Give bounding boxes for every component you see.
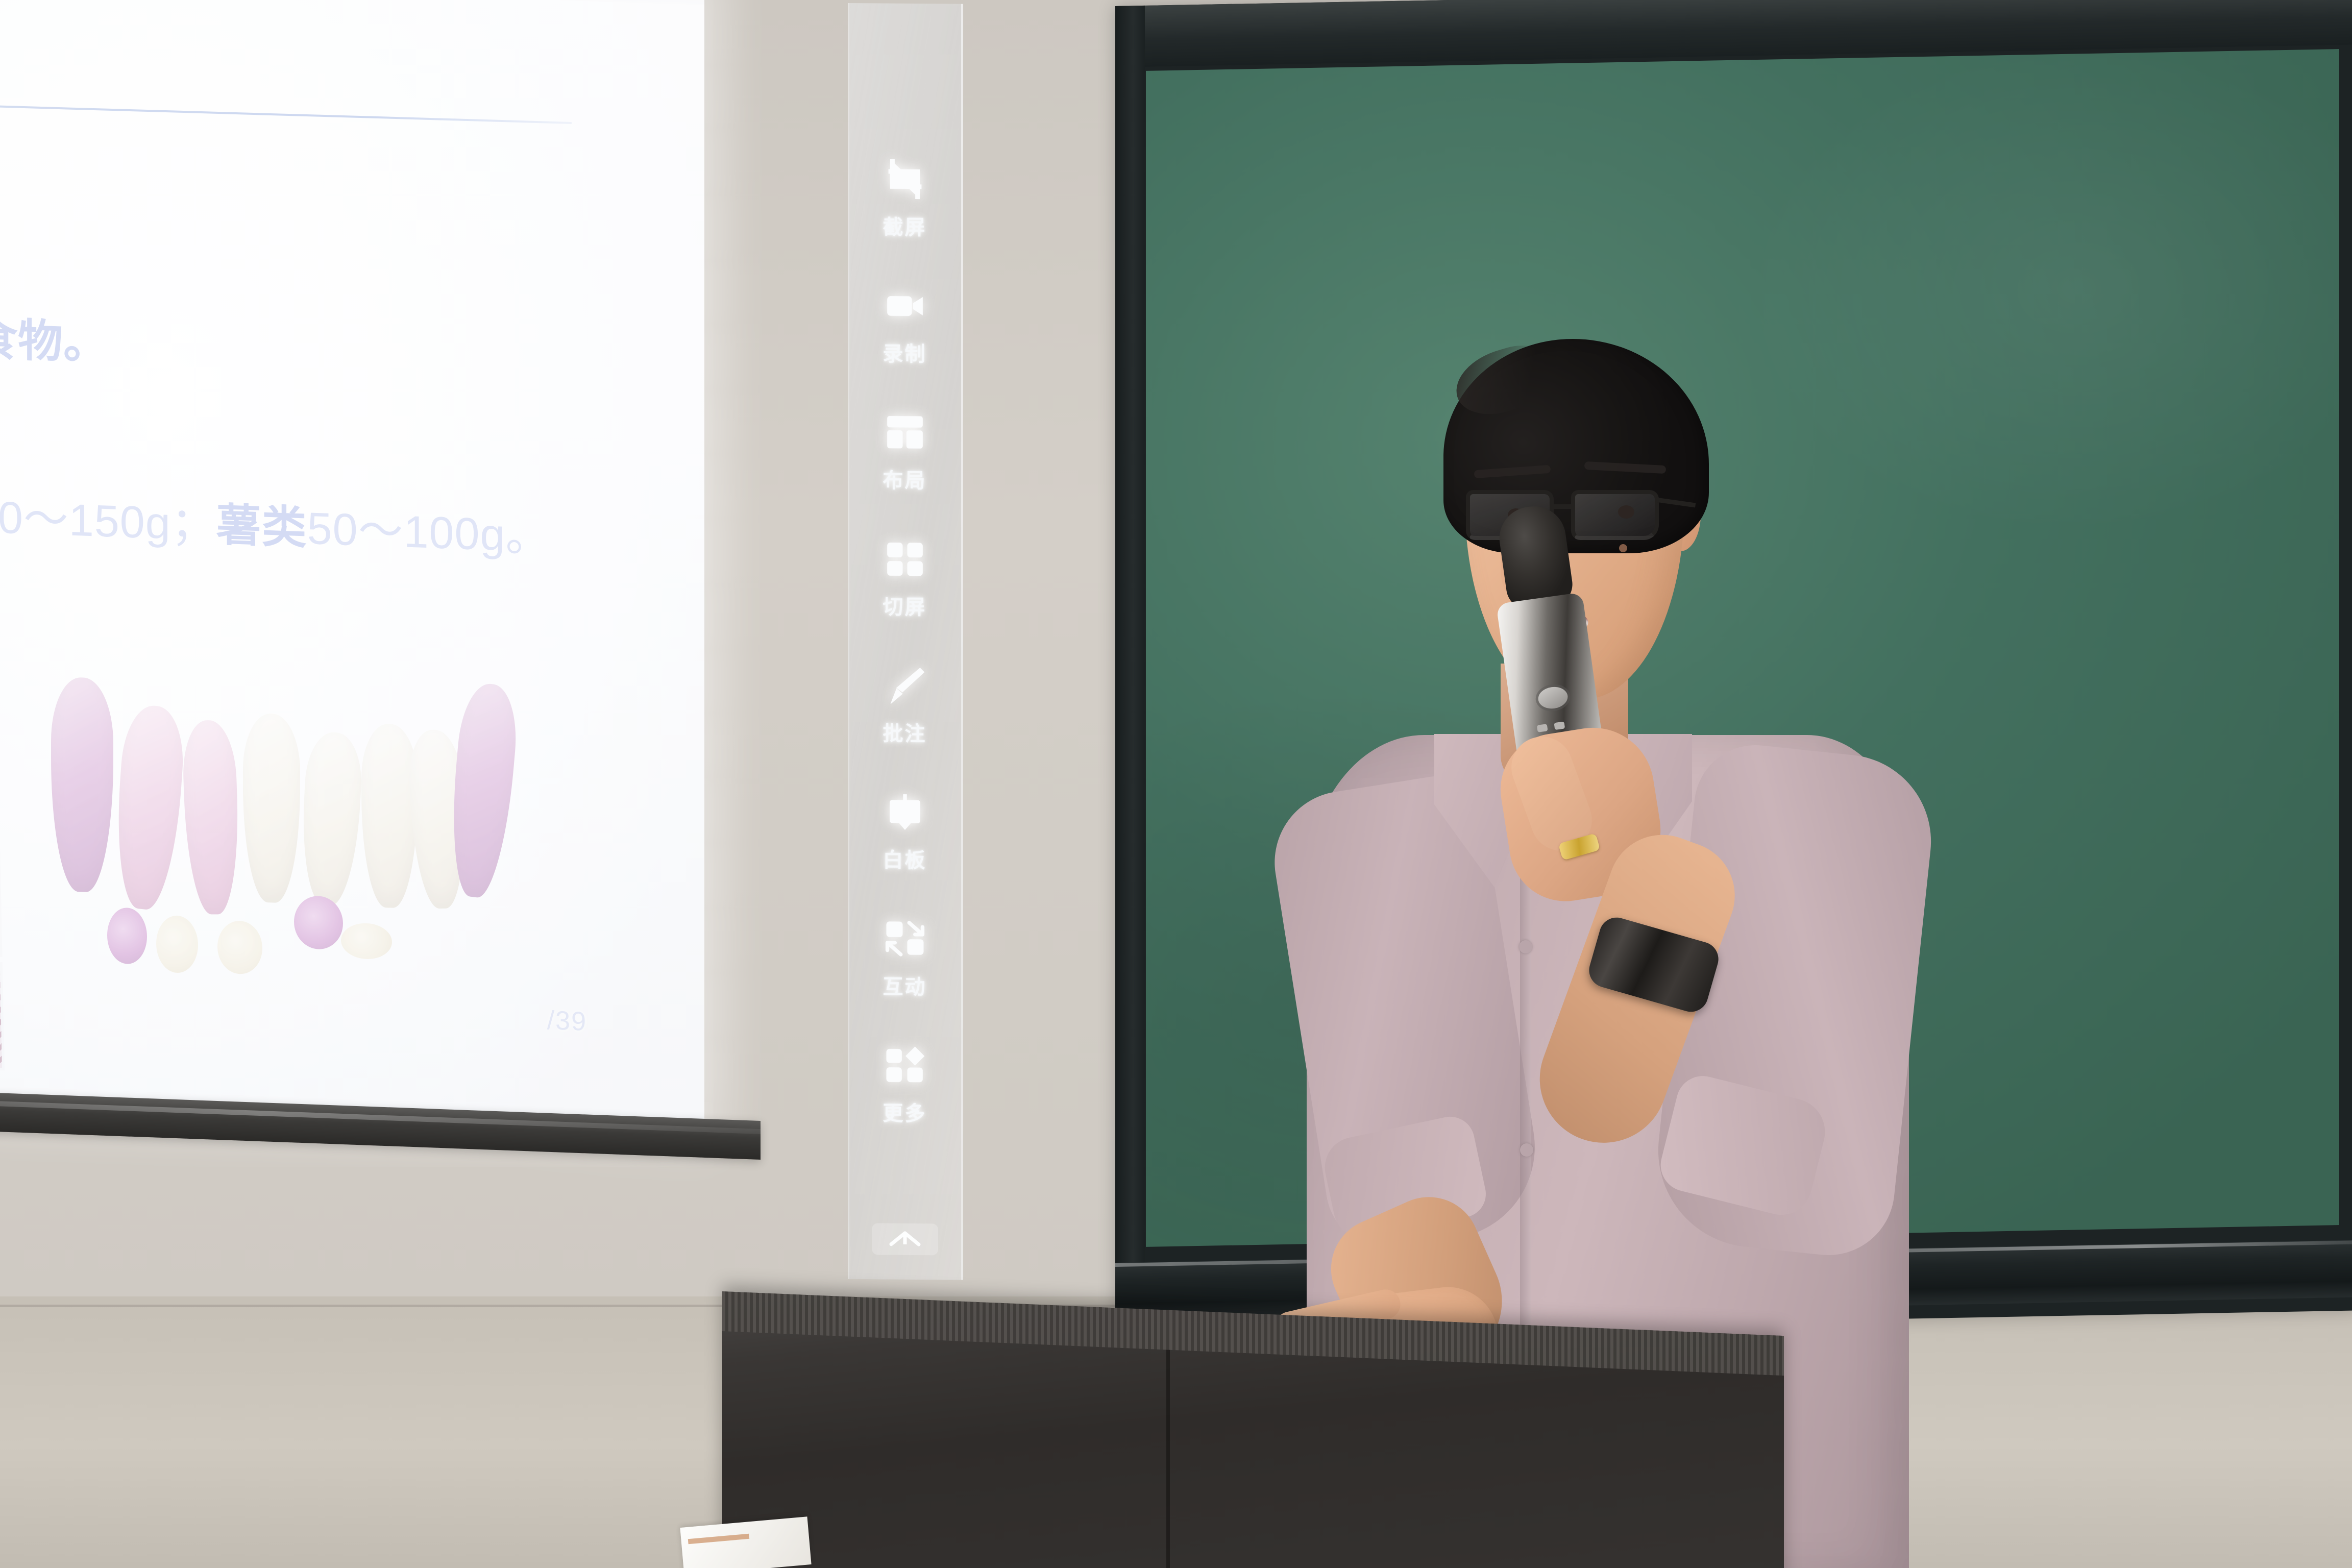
slide-line-3-amount-2: 50～100g。 — [307, 503, 551, 562]
presenter-cheek-mole — [1619, 544, 1627, 552]
grid-diamond-icon — [883, 1043, 927, 1088]
toolbar-label: 更多 — [883, 1097, 927, 1127]
toolbar-item-screenshot[interactable]: 截屏 — [848, 156, 961, 284]
toolbar-label: 截屏 — [883, 211, 927, 241]
chevron-up-icon — [887, 1227, 923, 1252]
toolbar-item-split-screen[interactable]: 切屏 — [848, 536, 961, 664]
sweet-potato-photo — [46, 661, 521, 994]
slide-line-3-mid: 薯类 — [216, 500, 307, 553]
microphone-key[interactable] — [1554, 721, 1565, 730]
smartboard-toolbar[interactable]: 截屏 录制 布局 — [848, 3, 963, 1280]
toolbar-label: 白板 — [883, 844, 927, 874]
sweet-potato-slice — [107, 907, 147, 965]
shirt-button — [1520, 1143, 1533, 1157]
sweet-potato — [181, 720, 241, 914]
monitor-panel-seam — [1166, 1350, 1170, 1568]
toolbar-label: 互动 — [883, 970, 927, 1000]
sweet-potato-slice — [341, 922, 392, 960]
shirt-button — [1519, 940, 1532, 953]
sweet-potato — [111, 703, 187, 913]
layout-panels-icon — [883, 410, 927, 455]
slide-line-3-amount-1: 50～150g； — [0, 491, 216, 550]
sweet-potato-slice — [217, 920, 262, 975]
toolbar-item-record[interactable]: 录制 — [848, 283, 961, 410]
toolbar-item-layout[interactable]: 布局 — [848, 409, 961, 537]
monitor-rear-panel — [722, 1291, 1784, 1568]
presenter-eye-right — [1618, 505, 1634, 519]
slide-line-2: 理搭配。 — [0, 397, 587, 466]
toolbar-item-whiteboard[interactable]: 白板 — [848, 789, 961, 917]
sweet-potato — [243, 713, 300, 903]
chalkboard-frame-left — [1115, 6, 1145, 1333]
brush-pen-icon — [883, 663, 927, 708]
sweet-potato — [299, 730, 364, 908]
toolbar-item-more[interactable]: 更多 — [848, 1042, 961, 1170]
sweet-potato — [51, 676, 113, 893]
projection-screen[interactable]: 奶和豆类食物。 理搭配。 和杂豆类50～150g；薯类50～100g。 — [0, 0, 704, 1128]
toolbar-label: 切屏 — [883, 591, 927, 621]
slide-text-block: 奶和豆类食物。 理搭配。 和杂豆类50～150g；薯类50～100g。 — [0, 310, 587, 560]
swap-arrows-squares-icon — [883, 916, 927, 962]
sweet-potato — [361, 723, 418, 909]
slide-page-number: /39 — [547, 1005, 587, 1037]
microphone-dpad-icon[interactable] — [1537, 685, 1569, 710]
crop-screenshot-icon — [883, 157, 927, 202]
glasses-lens-right — [1571, 490, 1659, 540]
grid-four-icon — [883, 536, 927, 582]
toolbar-label: 布局 — [883, 464, 927, 494]
toolbar-item-interact[interactable]: 互动 — [848, 916, 961, 1043]
whiteboard-easel-icon — [883, 790, 927, 835]
microphone-key[interactable] — [1537, 724, 1548, 732]
toolbar-collapse-button[interactable] — [872, 1223, 938, 1255]
toolbar-label: 录制 — [883, 337, 927, 367]
classroom-scene: 奶和豆类食物。 理搭配。 和杂豆类50～150g；薯类50～100g。 — [0, 0, 2352, 1568]
toolbar-item-annotate[interactable]: 批注 — [848, 663, 961, 790]
toolbar-label: 批注 — [883, 717, 927, 747]
video-camera-icon — [883, 283, 927, 329]
sweet-potato-slice — [156, 915, 198, 973]
